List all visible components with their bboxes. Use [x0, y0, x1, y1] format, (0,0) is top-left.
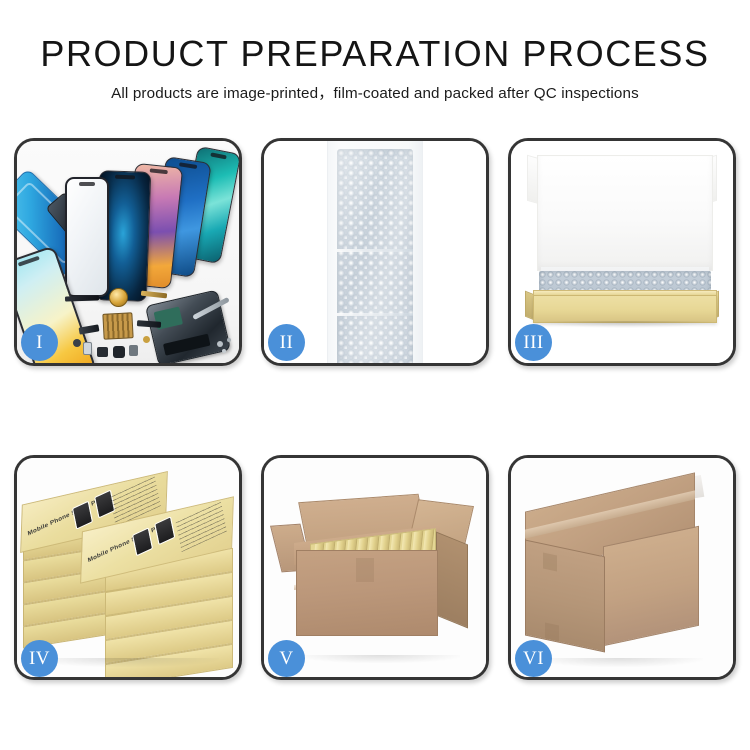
screws-shape — [217, 341, 223, 347]
process-step-panel-5[interactable]: V — [261, 455, 489, 680]
notch-shape — [149, 168, 168, 174]
small-part-shape — [73, 339, 81, 347]
process-step-panel-4[interactable]: Mobile Phone Spare Parts Mobile Phone Sp — [14, 455, 242, 680]
box-phone-graphic — [154, 516, 175, 545]
header: PRODUCT PREPARATION PROCESS All products… — [0, 0, 750, 103]
tray-shadow — [537, 321, 715, 328]
product-preparation-infographic: PRODUCT PREPARATION PROCESS All products… — [0, 0, 750, 750]
carton-seam-shape — [543, 553, 557, 572]
flex-cable-shape — [65, 295, 99, 301]
tray-front-shape — [533, 295, 717, 323]
small-part-shape — [113, 346, 125, 358]
small-part-shape — [83, 342, 92, 355]
plastic-sheen — [337, 149, 413, 363]
notch-shape — [79, 182, 95, 186]
step-badge-2: II — [268, 324, 305, 361]
carton-left-face — [525, 539, 605, 652]
carton-right-face — [603, 526, 699, 646]
gold-coil-shape — [109, 288, 128, 307]
page-subtitle: All products are image-printed，film-coat… — [0, 85, 750, 103]
small-part-shape — [129, 345, 138, 356]
box-spec-lines — [175, 500, 227, 552]
step-badge-5: V — [268, 640, 305, 677]
process-step-panel-2[interactable]: II — [261, 138, 489, 366]
page-title: PRODUCT PREPARATION PROCESS — [0, 32, 750, 76]
carton-seam-shape — [545, 623, 559, 642]
carton-shadow — [535, 658, 703, 667]
white-lid-shape — [537, 155, 713, 271]
process-step-grid: I II — [14, 138, 736, 683]
bubble-wrap-pouch-shape — [327, 141, 423, 363]
notch-shape — [18, 256, 40, 267]
chip-grid-shape — [102, 312, 133, 340]
carton-side-shape — [436, 532, 468, 629]
process-step-panel-1[interactable]: I — [14, 138, 242, 366]
step-badge-6: VI — [515, 640, 552, 677]
screen-protector-shape — [65, 177, 109, 297]
small-part-shape — [143, 336, 150, 343]
step-badge-3: III — [515, 324, 552, 361]
notch-shape — [179, 162, 197, 169]
step-badge-1: I — [21, 324, 58, 361]
process-step-panel-6[interactable]: VI — [508, 455, 736, 680]
process-step-panel-3[interactable]: III — [508, 138, 736, 366]
carton-shadow — [300, 655, 460, 663]
step-badge-4: IV — [21, 640, 58, 677]
stack-shadow — [31, 658, 219, 667]
notch-shape — [210, 152, 227, 159]
small-part-shape — [97, 347, 108, 357]
flex-cable-shape — [137, 320, 161, 328]
notch-shape — [115, 175, 135, 180]
carton-seam-shape — [356, 558, 374, 582]
